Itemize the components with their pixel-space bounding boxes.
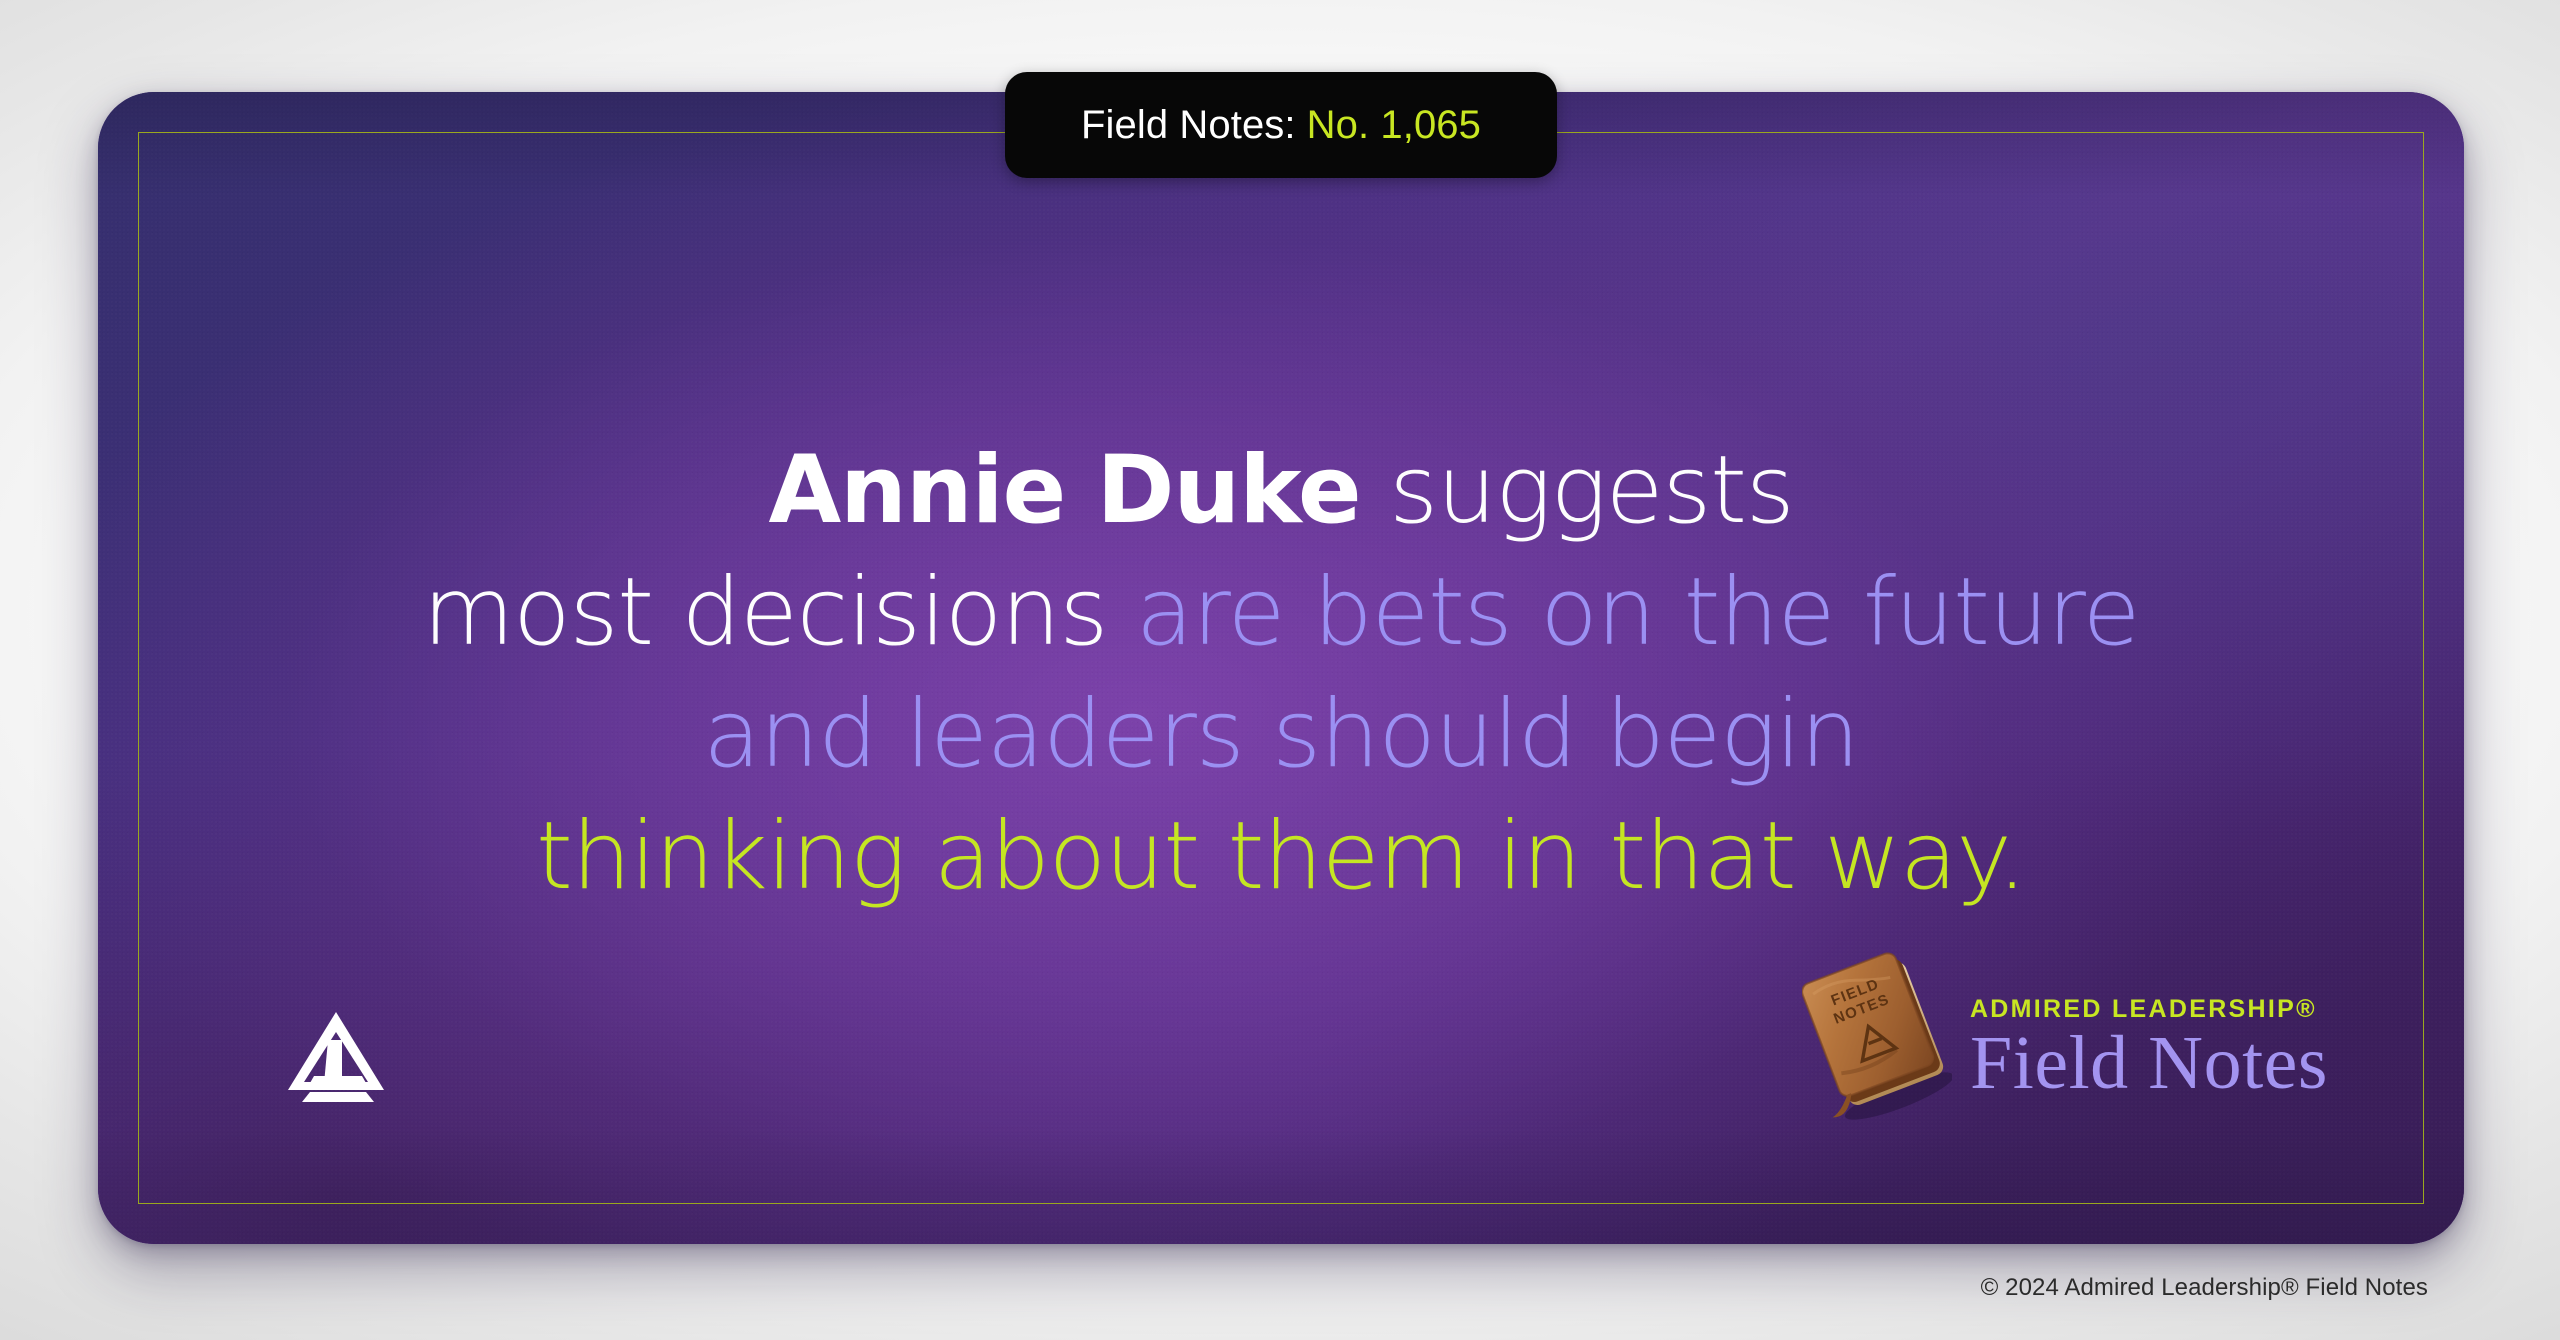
quote-card: Annie Duke suggests most decisions are b… [98,92,2464,1244]
quote-text: Annie Duke suggests most decisions are b… [98,430,2464,918]
quote-line-3: and leaders should begin [98,674,2464,796]
copyright-notice: © 2024 Admired Leadership® Field Notes [1981,1274,2428,1302]
quote-line-1-rest: suggests [1360,436,1793,545]
quote-line-1: Annie Duke suggests [98,430,2464,552]
field-notes-number-badge: Field Notes:No. 1,065 [1005,72,1557,178]
brand-lockup: FIELD NOTES ADMIRED LEADERSHIP® Field No… [1802,934,2328,1116]
quote-line-2-white: most decisions [423,558,1136,667]
quote-line-4: thinking about them in that way. [98,796,2464,918]
brand-eyebrow: ADMIRED LEADERSHIP® [1970,995,2328,1024]
brand-title: Field Notes [1970,1026,2328,1100]
page-root: Annie Duke suggests most decisions are b… [0,0,2560,1340]
brand-text-block: ADMIRED LEADERSHIP® Field Notes [1970,995,2328,1116]
field-notes-book-icon: FIELD NOTES [1802,940,1952,1122]
badge-text: Field Notes:No. 1,065 [1081,103,1481,148]
badge-label: Field Notes: [1081,103,1296,147]
admired-leadership-monogram-icon [284,1010,388,1102]
badge-number: No. 1,065 [1307,103,1481,147]
quote-line-2: most decisions are bets on the future [98,552,2464,674]
quote-line-2-lavender: are bets on the future [1136,558,2139,667]
quote-attribution-name: Annie Duke [768,436,1360,545]
